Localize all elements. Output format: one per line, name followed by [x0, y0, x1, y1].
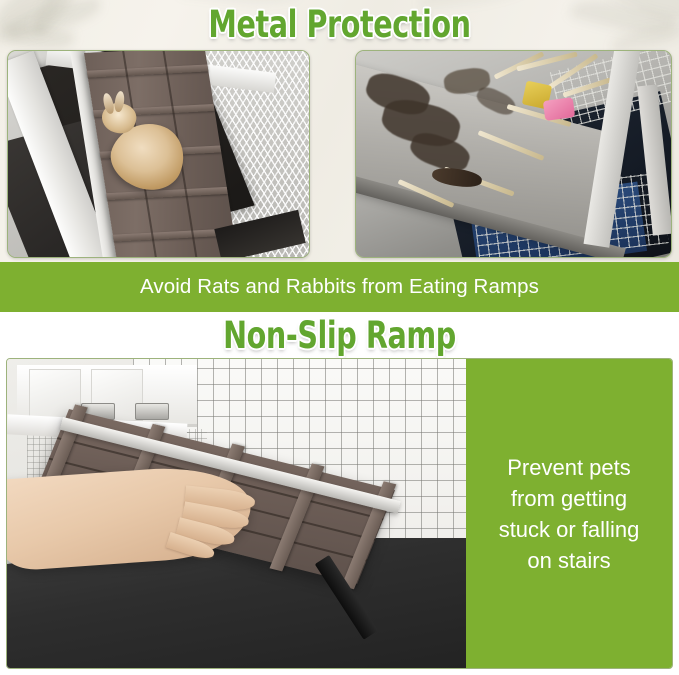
product-infographic: Metal Protection Avoid Rats and Rabbits …	[0, 0, 679, 675]
banner-text: Avoid Rats and Rabbits from Eating Ramps	[140, 275, 539, 299]
page-title-metal-protection: Metal Protection	[48, 4, 632, 46]
page-title-non-slip-ramp: Non-Slip Ramp	[48, 315, 632, 357]
green-caption-banner: Avoid Rats and Rabbits from Eating Ramps	[0, 262, 679, 312]
pink-object	[543, 97, 575, 121]
metal-hinge	[135, 403, 169, 420]
photo-hand-holding-ramp	[7, 359, 466, 668]
photo-damaged-chewed-ramp	[355, 50, 672, 258]
benefit-line: Prevent pets	[507, 452, 631, 483]
benefit-line: from getting	[511, 483, 627, 514]
green-benefit-panel: Prevent pets from getting stuck or falli…	[466, 359, 672, 668]
non-slip-ramp-section: Prevent pets from getting stuck or falli…	[6, 358, 673, 669]
benefit-line: on stairs	[527, 545, 610, 576]
photo-rabbit-on-ramp	[7, 50, 310, 258]
benefit-line: stuck or falling	[499, 514, 640, 545]
